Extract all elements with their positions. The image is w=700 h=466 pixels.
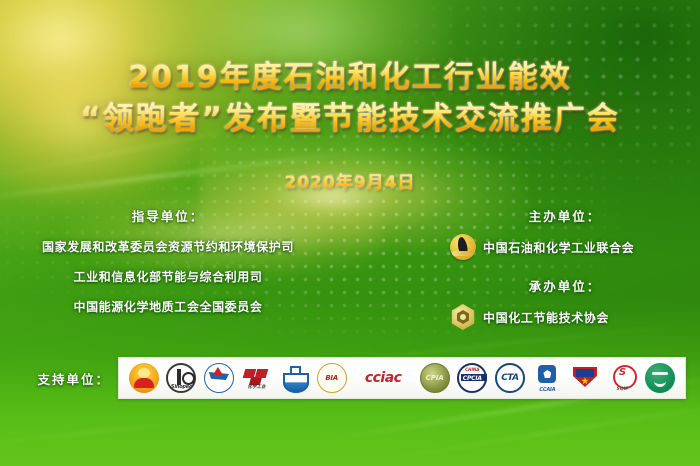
organizer-row: 中国化工节能技术协会 [440, 304, 690, 330]
cnooc-logo [204, 363, 234, 393]
cta-circle-logo: CTA [495, 363, 525, 393]
guidance-units-block: 指导单位： 国家发展和改革委员会资源节约和环境保护司 工业和信息化部节能与综合利… [18, 206, 318, 315]
title-line-1: 2019年度石油和化工行业能效 [0, 60, 700, 95]
event-date: 2020年9月4日 [0, 168, 700, 193]
sinopec-logo: Sinopec [166, 363, 196, 393]
cpcia-logo: CHINACPCIA [457, 363, 487, 393]
supporters-label: 支持单位： [0, 369, 118, 388]
guidance-units-heading: 指导单位： [18, 206, 318, 225]
host-row: 中国石油和化学工业联合会 [440, 234, 690, 260]
green-face-logo [645, 363, 675, 393]
ceca-logo [450, 304, 476, 330]
ccaia-logo: CCAIA [532, 363, 562, 393]
event-poster: 2019年度石油和化工行业能效 “领跑者”发布暨节能技术交流推广会 2020年9… [0, 0, 700, 466]
blue-flask-logo [279, 363, 309, 393]
organizer-heading: 承办单位： [440, 276, 690, 295]
shield-star-logo [570, 363, 600, 393]
host-heading: 主办单位： [440, 206, 690, 225]
bia-logo: BIA [317, 363, 347, 393]
guidance-unit-1: 国家发展和改革委员会资源节约和环境保护司 [18, 238, 318, 255]
supporters-logo-strip: Sinopec 化学工业 BIA cciac CPIA CHINACPCIA C… [118, 357, 686, 399]
cciac-wordmark-logo: cciac [354, 363, 412, 393]
sqip-logo: SSQIP [608, 363, 638, 393]
host-organizer-block: 主办单位： 中国石油和化学工业联合会 承办单位： 中国化工节能技术协会 [440, 206, 690, 330]
poster-title: 2019年度石油和化工行业能效 “领跑者”发布暨节能技术交流推广会 [0, 60, 700, 138]
supporters-block: 支持单位： Sinopec 化学工业 BIA cciac CPIA CHINAC… [0, 356, 700, 400]
red-chem-logo: 化学工业 [241, 363, 271, 393]
cnpc-logo [129, 363, 159, 393]
title-line-2: “领跑者”发布暨节能技术交流推广会 [0, 101, 700, 138]
guidance-unit-2: 工业和信息化部节能与综合利用司 [18, 268, 318, 285]
organizer-name: 中国化工节能技术协会 [483, 309, 609, 326]
cpcif-logo [450, 234, 476, 260]
guidance-unit-3: 中国能源化学地质工会全国委员会 [18, 298, 318, 315]
green-oval-logo: CPIA [420, 363, 450, 393]
host-name: 中国石油和化学工业联合会 [483, 239, 634, 256]
